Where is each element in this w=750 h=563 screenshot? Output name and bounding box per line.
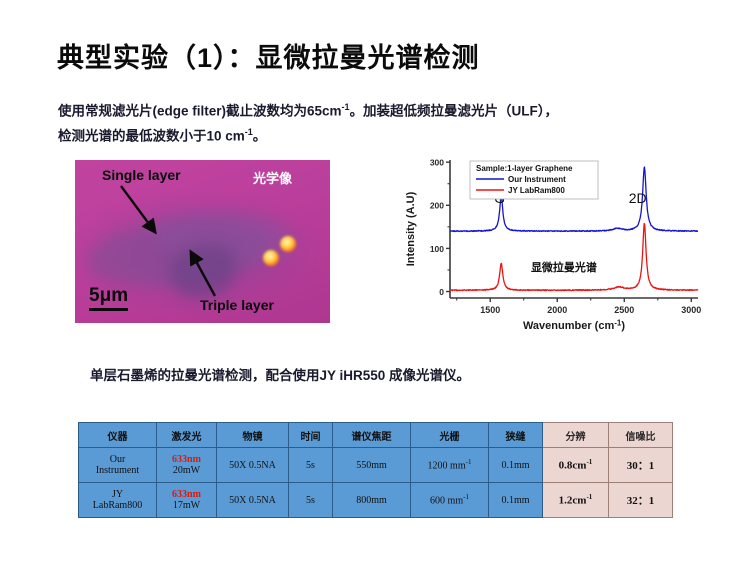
x-tick-label: 1500 xyxy=(480,305,500,315)
table-row: JY LabRam800 633nm 17mW 50X 0.5NA 5s 800… xyxy=(79,483,673,518)
raman-spectrum-chart: 01002003001500200025003000Wavenumber (cm… xyxy=(398,150,708,340)
x-tick-label: 2000 xyxy=(547,305,567,315)
legend-title: Sample:1-layer Graphene xyxy=(476,164,573,173)
body-line1-superscript: -1 xyxy=(342,102,350,112)
table-header-grating: 光栅 xyxy=(411,423,489,448)
cell-snr: 32：1 xyxy=(609,483,673,518)
table-header-resolution: 分辨 xyxy=(543,423,609,448)
cell-grating: 600 mm-1 xyxy=(411,483,489,518)
cell-snr: 30：1 xyxy=(609,448,673,483)
instrument-name-line1: JY xyxy=(80,489,155,500)
cell-time: 5s xyxy=(289,448,333,483)
chart-annotation-2d: 2D xyxy=(629,190,647,206)
resolution-superscript: -1 xyxy=(586,493,592,501)
spectrum-line-jy-labram800 xyxy=(450,224,698,291)
instrument-name-line1: Our xyxy=(80,454,155,465)
micrograph-scale-bar: 5μm xyxy=(89,285,128,311)
table-header-focal-length: 谱仪焦距 xyxy=(333,423,411,448)
y-tick-label: 200 xyxy=(430,201,444,211)
instrument-name-line2: LabRam800 xyxy=(80,500,155,511)
body-paragraph: 使用常规滤光片(edge filter)截止波数均为65cm-1。加装超低频拉曼… xyxy=(58,97,718,146)
body-line2-superscript: -1 xyxy=(245,127,253,137)
micrograph-label-optical-image: 光学像 xyxy=(253,168,292,187)
cell-objective: 50X 0.5NA xyxy=(217,448,289,483)
x-axis-title: Wavenumber (cm-1) xyxy=(523,319,625,333)
chart-annotation-cjk: 显微拉曼光谱 xyxy=(531,260,597,274)
cell-resolution: 1.2cm-1 xyxy=(543,483,609,518)
table-header-time: 时间 xyxy=(289,423,333,448)
micrograph-label-single-layer: Single layer xyxy=(102,167,181,183)
resolution-value: 0.8cm xyxy=(559,460,587,472)
legend-label-1: JY LabRam800 xyxy=(508,186,565,195)
micrograph-label-triple-layer: Triple layer xyxy=(200,297,274,313)
table-header-laser: 激发光 xyxy=(157,423,217,448)
laser-wavelength: 633nm xyxy=(158,454,215,465)
cell-slit: 0.1mm xyxy=(489,448,543,483)
grating-superscript: -1 xyxy=(466,458,472,466)
cell-grating: 1200 mm-1 xyxy=(411,448,489,483)
grating-superscript: -1 xyxy=(463,493,469,501)
grating-value: 600 mm xyxy=(430,496,463,507)
cell-focal-length: 550mm xyxy=(333,448,411,483)
laser-spot-icon-upper xyxy=(280,236,296,252)
cell-laser: 633nm 17mW xyxy=(157,483,217,518)
cell-time: 5s xyxy=(289,483,333,518)
page-title: 典型实验（1）：显微拉曼光谱检测 xyxy=(57,36,480,75)
laser-spot-icon-lower xyxy=(263,250,279,266)
cell-laser: 633nm 20mW xyxy=(157,448,217,483)
laser-power: 17mW xyxy=(158,500,215,511)
specification-table: 仪器 激发光 物镜 时间 谱仪焦距 光栅 狭缝 分辨 信噪比 Our Instr… xyxy=(78,422,673,518)
cell-slit: 0.1mm xyxy=(489,483,543,518)
table-header-instrument: 仪器 xyxy=(79,423,157,448)
grating-value: 1200 mm xyxy=(428,461,466,472)
x-tick-label: 3000 xyxy=(681,305,701,315)
cell-instrument: JY LabRam800 xyxy=(79,483,157,518)
table-row: Our Instrument 633nm 20mW 50X 0.5NA 5s 5… xyxy=(79,448,673,483)
body-line1-part1: 使用常规滤光片(edge filter)截止波数均为65cm xyxy=(58,104,342,119)
laser-power: 20mW xyxy=(158,465,215,476)
y-tick-label: 100 xyxy=(430,244,444,254)
laser-wavelength: 633nm xyxy=(158,489,215,500)
resolution-value: 1.2cm xyxy=(559,495,587,507)
body-line2-part1: 检测光谱的最低波数小于10 cm xyxy=(58,128,245,143)
body-line2-part2: 。 xyxy=(253,128,267,143)
y-tick-label: 0 xyxy=(439,287,444,297)
cell-instrument: Our Instrument xyxy=(79,448,157,483)
cell-objective: 50X 0.5NA xyxy=(217,483,289,518)
body-line1-part2: 。加装超低频拉曼滤光片（ULF）， xyxy=(350,104,559,119)
resolution-superscript: -1 xyxy=(586,458,592,466)
table-header-objective: 物镜 xyxy=(217,423,289,448)
x-tick-label: 2500 xyxy=(614,305,634,315)
cell-focal-length: 800mm xyxy=(333,483,411,518)
y-tick-label: 300 xyxy=(430,158,444,168)
legend-label-0: Our Instrument xyxy=(508,175,566,184)
instrument-name-line2: Instrument xyxy=(80,465,155,476)
y-axis-title: Intensity (A.U) xyxy=(405,191,417,266)
figure-caption: 单层石墨烯的拉曼光谱检测，配合使用JY iHR550 成像光谱仪。 xyxy=(90,364,470,384)
table-header-snr: 信噪比 xyxy=(609,423,673,448)
chart-canvas: 01002003001500200025003000Wavenumber (cm… xyxy=(398,150,708,340)
table-header-row: 仪器 激发光 物镜 时间 谱仪焦距 光栅 狭缝 分辨 信噪比 xyxy=(79,423,673,448)
table-header-slit: 狭缝 xyxy=(489,423,543,448)
cell-resolution: 0.8cm-1 xyxy=(543,448,609,483)
optical-micrograph-image: Single layer Triple layer 光学像 5μm xyxy=(75,160,330,323)
